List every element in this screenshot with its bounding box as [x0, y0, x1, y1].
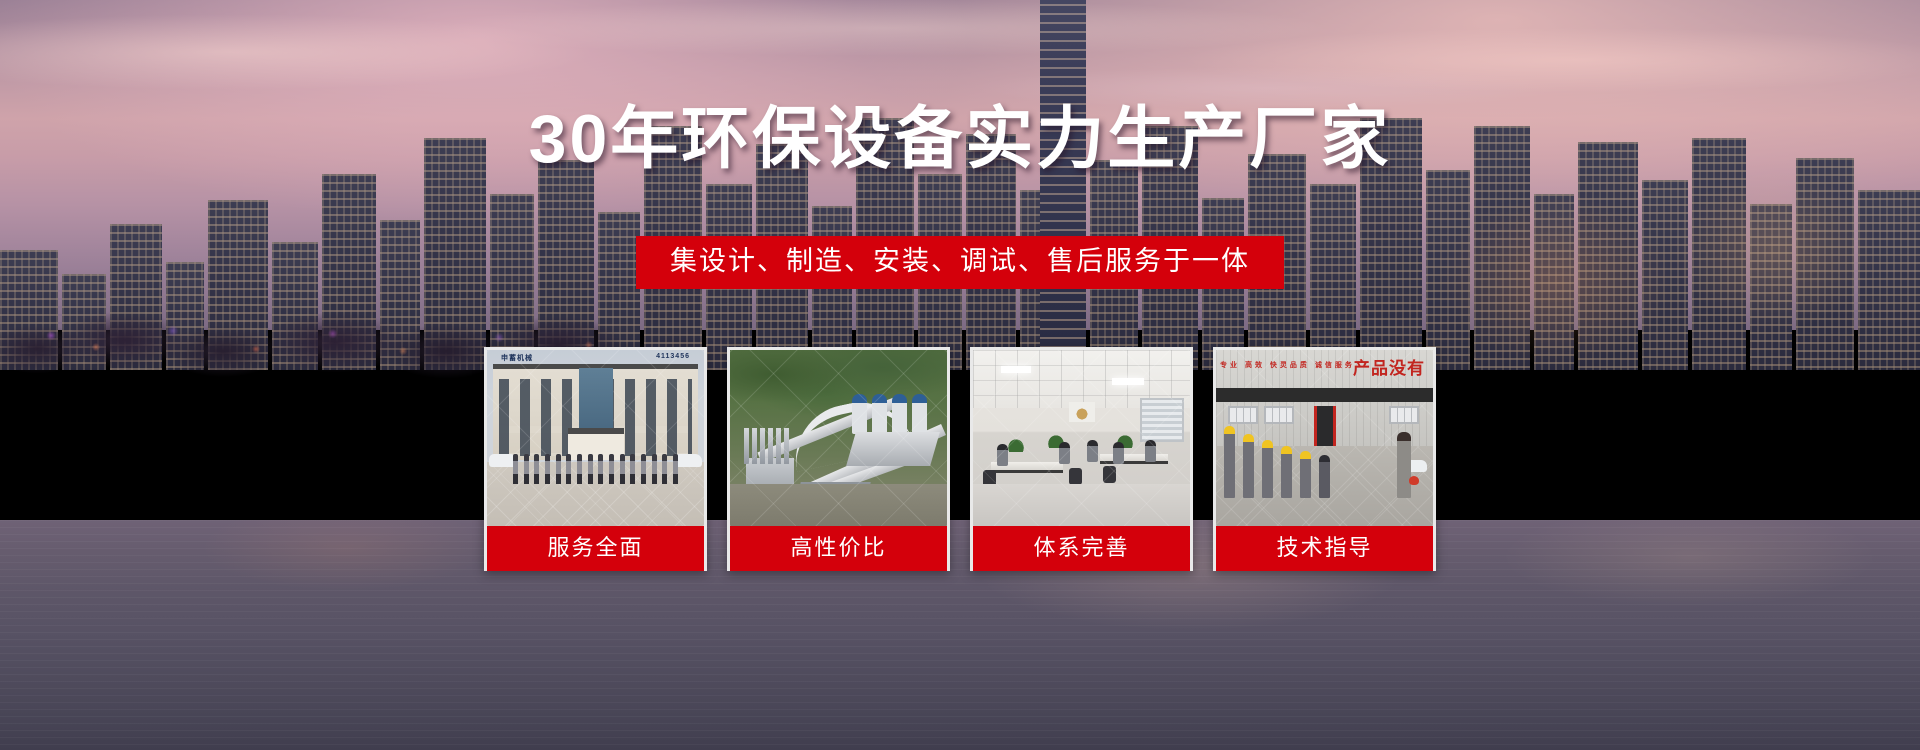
subtitle-banner: 集设计、制造、安装、调试、售后服务于一体 [636, 236, 1284, 289]
feature-card-value[interactable]: 高性价比 [727, 347, 950, 571]
page-title: 30年环保设备实力生产厂家 [0, 105, 1920, 173]
card-photo-factory-crew: 专业 高效 快灵品质 诚信服务 产品没有 [1216, 350, 1433, 526]
subtitle-banner-wrap: 集设计、制造、安装、调试、售后服务于一体 [0, 236, 1920, 289]
feature-card-service[interactable]: 申蓄机械 4113456 服务全面 [484, 347, 707, 571]
card-label-service: 服务全面 [487, 526, 704, 571]
hero-banner: 30年环保设备实力生产厂家 集设计、制造、安装、调试、售后服务于一体 [0, 0, 1920, 750]
card-photo-office-building: 申蓄机械 4113456 [487, 350, 704, 526]
card-label-value: 高性价比 [730, 526, 947, 571]
factory-wall-headline: 产品没有 [1353, 354, 1425, 379]
feature-card-list: 申蓄机械 4113456 服务全面 [484, 347, 1436, 571]
feature-card-guidance[interactable]: 专业 高效 快灵品质 诚信服务 产品没有 [1213, 347, 1436, 571]
card-photo-office-interior [973, 350, 1190, 526]
card-label-system: 体系完善 [973, 526, 1190, 571]
card-label-guidance: 技术指导 [1216, 526, 1433, 571]
building-company-sign: 申蓄机械 [501, 353, 533, 363]
card-photo-plant-aerial [730, 350, 947, 526]
factory-wall-slogans: 专业 高效 快灵品质 诚信服务 [1220, 360, 1355, 370]
building-phone-number: 4113456 [656, 353, 690, 360]
feature-card-system[interactable]: 体系完善 [970, 347, 1193, 571]
